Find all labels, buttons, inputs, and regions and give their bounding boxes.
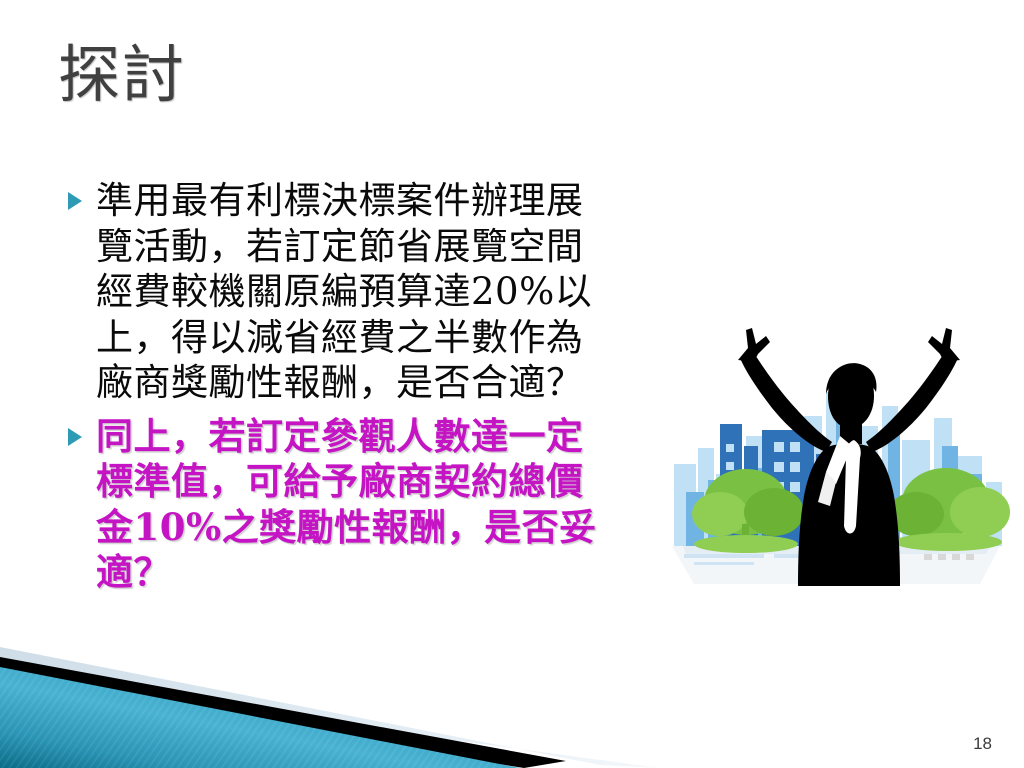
bullet-list: 準用最有利標決標案件辦理展覽活動，若訂定節省展覽空間經費較機關原編預算達20%以…	[62, 178, 602, 596]
list-item: 準用最有利標決標案件辦理展覽活動，若訂定節省展覽空間經費較機關原編預算達20%以…	[62, 178, 602, 406]
slide-canvas: 探討 準用最有利標決標案件辦理展覽活動，若訂定節省展覽空間經費較機關原編預算達2…	[0, 0, 1024, 768]
bullet-text-highlight: 同上，若訂定參觀人數達一定標準值，可給予廠商契約總價金10%之獎勵性報酬，是否妥…	[96, 414, 602, 596]
list-item: 同上，若訂定參觀人數達一定標準值，可給予廠商契約總價金10%之獎勵性報酬，是否妥…	[62, 414, 602, 596]
bullet-text-primary: 準用最有利標決標案件辦理展覽活動，若訂定節省展覽空間經費較機關原編預算達20%以…	[96, 178, 602, 406]
celebrating-businessman-cityscape-image	[650, 296, 1018, 596]
triangle-bullet-icon	[62, 178, 96, 210]
triangle-bullet-icon	[62, 414, 96, 446]
page-number: 18	[973, 734, 992, 754]
page-title: 探討	[58, 38, 186, 112]
corner-diagonal-bands	[0, 633, 660, 768]
